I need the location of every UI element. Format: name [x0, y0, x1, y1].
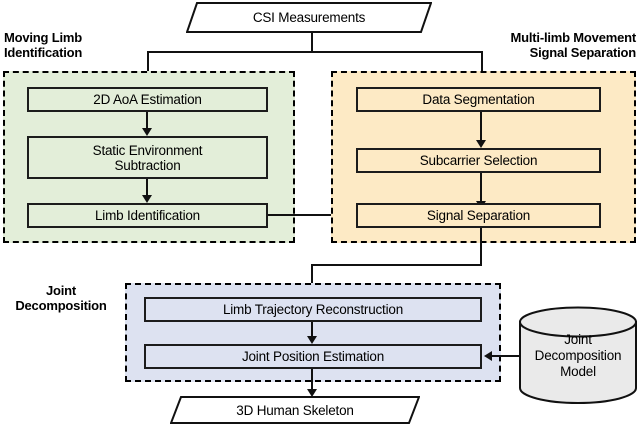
connector-trajectory-to-jointpos — [311, 322, 313, 337]
group-label-line1: Joint — [2, 283, 120, 298]
group-label-multi-limb-movement-signal-separation: Multi-limb Movement Signal Separation — [396, 30, 636, 60]
arrowhead-to-limb-identification — [142, 195, 152, 203]
step-label: Joint Position Estimation — [242, 349, 384, 364]
flowchart-canvas: CSI Measurements Moving Limb Identificat… — [0, 0, 640, 425]
step-label: 2D AoA Estimation — [93, 92, 201, 107]
step-label: Limb Identification — [95, 208, 200, 223]
connector-jointpos-to-output — [311, 369, 313, 391]
connector-static-to-limbid — [146, 179, 148, 196]
step-limb-identification[interactable]: Limb Identification — [27, 203, 268, 228]
step-label: Limb Trajectory Reconstruction — [223, 302, 403, 317]
step-label-line2: Subtraction — [114, 158, 180, 173]
datastore-label-line1: Joint — [518, 332, 638, 348]
output-node-label: 3D Human Skeleton — [170, 396, 420, 424]
connector-csi-trunk — [311, 32, 313, 52]
group-label-joint-decomposition: Joint Decomposition — [2, 283, 120, 313]
step-2d-aoa-estimation[interactable]: 2D AoA Estimation — [27, 87, 268, 112]
arrowhead-to-subcarrier-selection — [476, 140, 486, 148]
group-label-line2: Decomposition — [2, 298, 120, 313]
step-signal-separation[interactable]: Signal Separation — [356, 203, 601, 228]
group-label-line1: Moving Limb — [4, 30, 144, 45]
input-node-label: CSI Measurements — [186, 2, 432, 33]
input-node-csi-measurements: CSI Measurements — [186, 2, 432, 33]
arrowhead-to-joint-position-from-model — [484, 351, 492, 361]
step-data-segmentation[interactable]: Data Segmentation — [356, 87, 601, 112]
step-static-environment-subtraction[interactable]: Static Environment Subtraction — [27, 136, 268, 179]
arrowhead-to-static-env — [142, 128, 152, 136]
connector-signalsep-left — [311, 264, 482, 266]
datastore-label-line2: Decomposition — [518, 348, 638, 364]
arrowhead-to-joint-position — [307, 336, 317, 344]
step-label: Data Segmentation — [422, 92, 534, 107]
step-label: Subcarrier Selection — [420, 153, 538, 168]
step-limb-trajectory-reconstruction[interactable]: Limb Trajectory Reconstruction — [144, 297, 482, 322]
connector-subcarrier-to-signalsep — [480, 173, 482, 202]
datastore-label: Joint Decomposition Model — [518, 332, 638, 380]
connector-signalsep-down — [480, 228, 482, 266]
output-node-3d-human-skeleton: 3D Human Skeleton — [170, 396, 420, 424]
group-label-moving-limb-identification: Moving Limb Identification — [4, 30, 144, 60]
step-joint-position-estimation[interactable]: Joint Position Estimation — [144, 344, 482, 369]
group-label-line2: Identification — [4, 45, 144, 60]
connector-dataseg-to-subcarrier — [480, 112, 482, 141]
step-label: Signal Separation — [427, 208, 530, 223]
datastore-label-line3: Model — [518, 364, 638, 380]
datastore-joint-decomposition-model[interactable]: Joint Decomposition Model — [518, 306, 638, 404]
group-label-line1: Multi-limb Movement — [396, 30, 636, 45]
connector-aoa-to-static — [146, 112, 148, 129]
group-label-line2: Signal Separation — [396, 45, 636, 60]
step-label-line1: Static Environment — [93, 143, 203, 158]
step-subcarrier-selection[interactable]: Subcarrier Selection — [356, 148, 601, 173]
